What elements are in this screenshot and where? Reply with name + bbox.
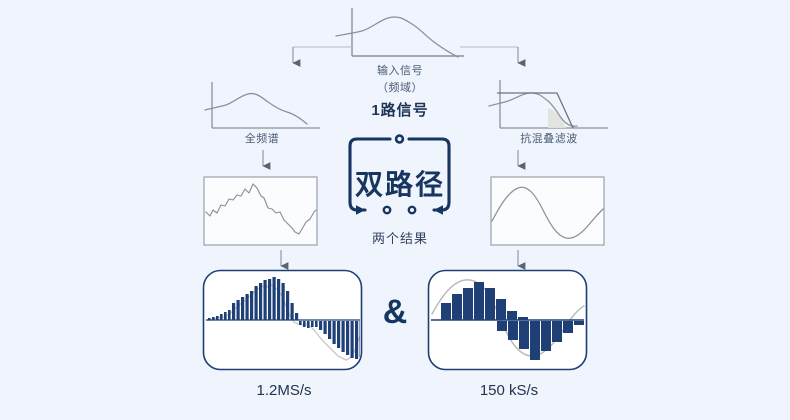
input-signal-label-line1: 输入信号 (320, 62, 480, 78)
result-down-arrows (281, 250, 518, 266)
diagram-canvas: 输入信号 （频域） 1路信号 全频谱 抗混叠滤波 双路径 两个结果 & 1.2M… (0, 0, 790, 420)
anti-alias-label: 抗混叠滤波 (493, 130, 605, 146)
high-rate-label: 1.2MS/s (205, 382, 363, 399)
bracket-dot-left (384, 207, 390, 213)
low-rate-label: 150 kS/s (430, 382, 588, 399)
split-connector (293, 47, 518, 63)
full-spectrum-label: 全频谱 (206, 130, 318, 146)
input-signal-chart (336, 8, 464, 57)
sine-waveform-panel (491, 177, 604, 245)
bracket-dot-right (409, 207, 415, 213)
input-signal-label-line2: （频域） (320, 79, 480, 95)
dual-path-title: 双路径 (345, 163, 455, 203)
conjunction-ampersand: & (372, 293, 418, 332)
results-caption: 两个结果 (345, 228, 455, 247)
anti-alias-chart (489, 80, 608, 128)
bracket-top-dot (396, 136, 403, 143)
noisy-waveform-panel (204, 177, 317, 245)
full-spectrum-chart (205, 82, 320, 128)
sampled-high-rate-card (204, 271, 377, 370)
input-signal-caption: 1路信号 (320, 99, 480, 120)
sampled-low-rate-card (429, 271, 587, 370)
